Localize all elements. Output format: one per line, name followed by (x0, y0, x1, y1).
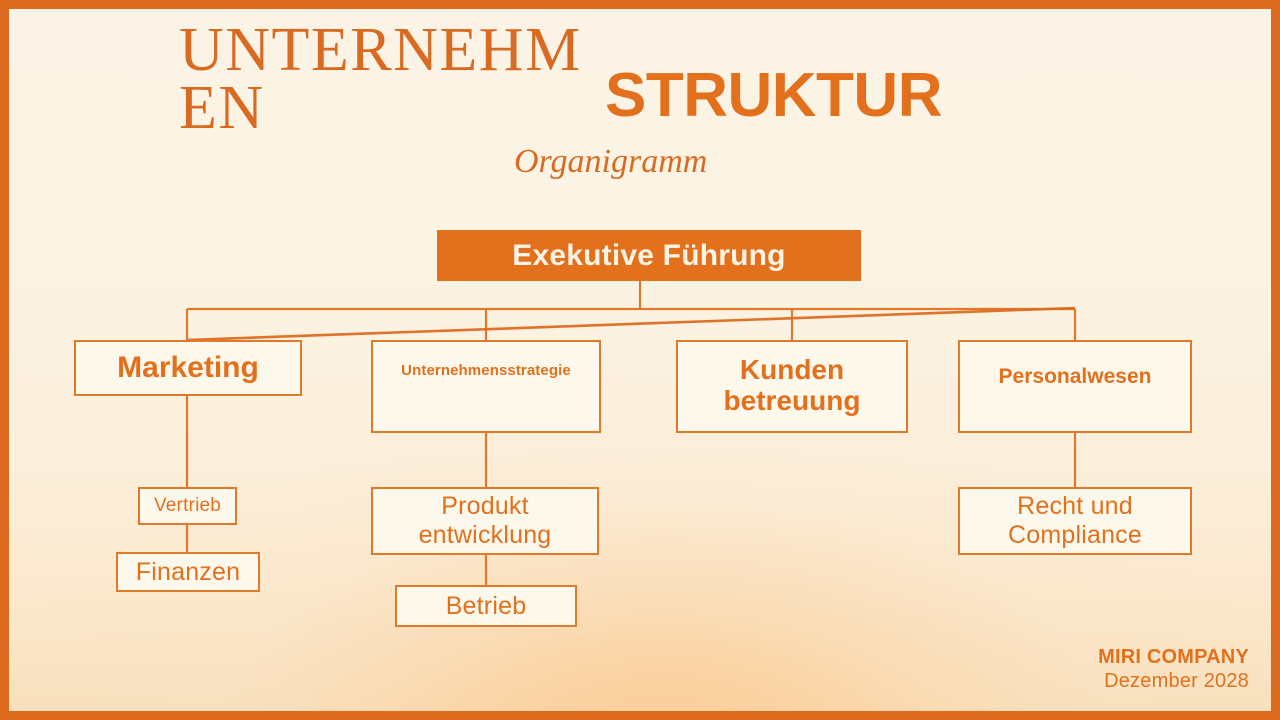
organigramm-poster: UNTERNEHMEN STRUKTUR Organigramm Exe (0, 0, 1280, 720)
node-label: Vertrieb (140, 495, 235, 517)
node-finanzen[interactable]: Finanzen (116, 552, 260, 592)
node-vertrieb[interactable]: Vertrieb (138, 487, 237, 525)
node-marketing[interactable]: Marketing (74, 340, 302, 396)
node-label-line1: Produkt (441, 492, 529, 520)
node-label: Kunden betreuung (678, 354, 906, 417)
title-block: UNTERNEHMEN STRUKTUR Organigramm (9, 9, 1271, 204)
footer-company: MIRI COMPANY (1098, 646, 1249, 669)
node-label-line1: Recht und (1017, 492, 1133, 520)
node-label: Recht und Compliance (960, 492, 1190, 550)
node-betrieb[interactable]: Betrieb (395, 585, 577, 627)
node-exekutive-fuehrung[interactable]: Exekutive Führung (437, 230, 861, 281)
node-label: Produkt entwicklung (373, 492, 597, 550)
node-label: Personalwesen (960, 365, 1190, 389)
node-label: Finanzen (118, 558, 258, 587)
node-recht-und-compliance[interactable]: Recht und Compliance (958, 487, 1192, 555)
node-label-line2: entwicklung (419, 521, 552, 549)
footer: MIRI COMPANY Dezember 2028 (1098, 646, 1249, 693)
node-kundenbetreuung[interactable]: Kunden betreuung (676, 340, 908, 433)
edge-diagonal-accent (187, 308, 1075, 340)
title-subtitle: Organigramm (514, 145, 707, 179)
node-label: Betrieb (397, 592, 575, 621)
node-label: Exekutive Führung (437, 239, 861, 273)
node-label-line1: Kunden (740, 354, 844, 385)
node-produktentwicklung[interactable]: Produkt entwicklung (371, 487, 599, 555)
node-label: Marketing (76, 351, 300, 385)
node-label-line2: Compliance (1008, 521, 1142, 549)
node-personalwesen[interactable]: Personalwesen (958, 340, 1192, 433)
title-line-struktur: STRUKTUR (605, 65, 942, 127)
footer-date: Dezember 2028 (1098, 669, 1249, 693)
node-label-line2: betreuung (724, 385, 861, 416)
title-line-unternehmen: UNTERNEHMEN (179, 21, 619, 138)
node-label: Unternehmensstrategie (373, 362, 599, 379)
node-unternehmensstrategie[interactable]: Unternehmensstrategie (371, 340, 601, 433)
